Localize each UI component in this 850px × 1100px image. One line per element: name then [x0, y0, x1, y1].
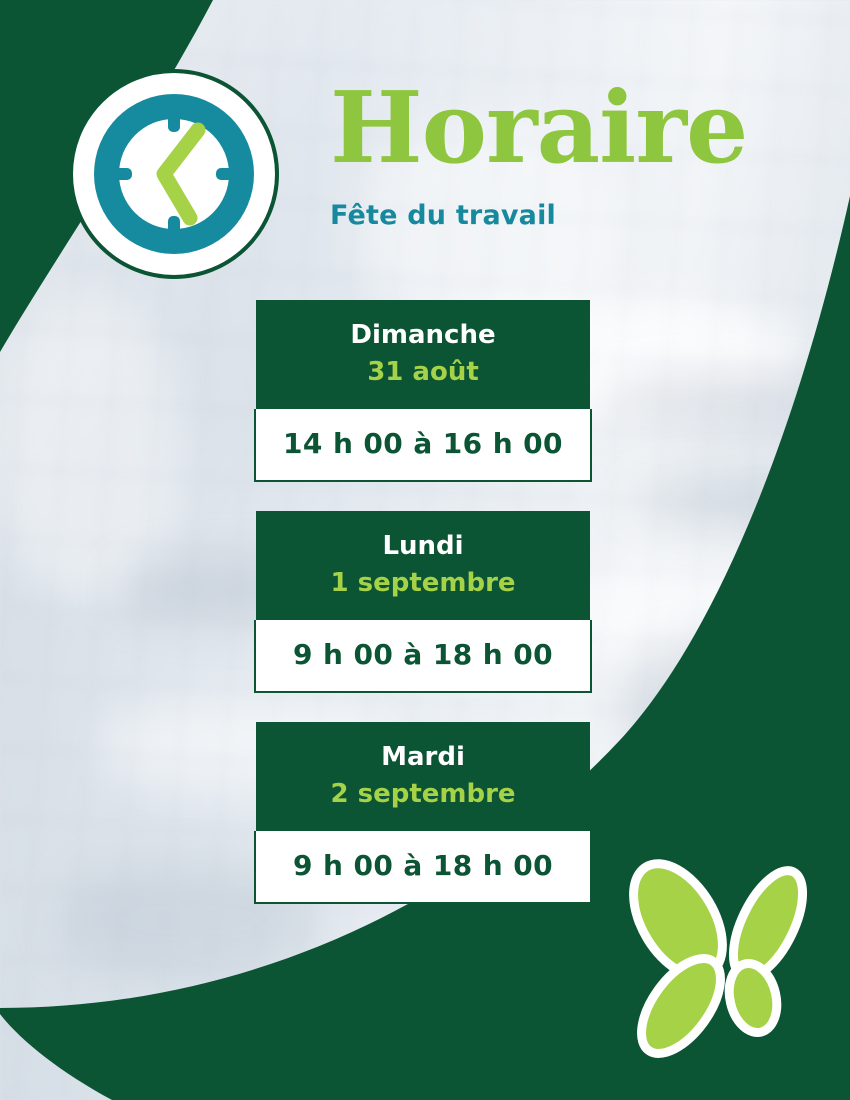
schedule-date: 31 août [266, 356, 580, 390]
schedule-card: Dimanche 31 août 14 h 00 à 16 h 00 [256, 300, 590, 482]
schedule-poster: Horaire Fête du travail Dimanche 31 août… [0, 0, 850, 1100]
schedule-day-name: Mardi [266, 741, 580, 774]
schedule-card: Mardi 2 septembre 9 h 00 à 18 h 00 [256, 722, 590, 904]
schedule-card-body: 9 h 00 à 18 h 00 [254, 620, 592, 693]
butterfly-icon [616, 858, 836, 1058]
schedule-hours: 9 h 00 à 18 h 00 [262, 849, 584, 882]
schedule-card-body: 14 h 00 à 16 h 00 [254, 409, 592, 482]
schedule-day-name: Lundi [266, 530, 580, 563]
schedule-day-name: Dimanche [266, 319, 580, 352]
title-block: Horaire Fête du travail [330, 80, 810, 231]
schedule-date: 2 septembre [266, 778, 580, 812]
page-subtitle: Fête du travail [330, 200, 810, 231]
schedule-card-body: 9 h 00 à 18 h 00 [254, 831, 592, 904]
schedule-card: Lundi 1 septembre 9 h 00 à 18 h 00 [256, 511, 590, 693]
schedule-hours: 14 h 00 à 16 h 00 [262, 427, 584, 460]
clock-icon [68, 68, 280, 280]
schedule-card-header: Dimanche 31 août [256, 300, 590, 409]
schedule-card-header: Mardi 2 septembre [256, 722, 590, 831]
schedule-hours: 9 h 00 à 18 h 00 [262, 638, 584, 671]
page-title: Horaire [330, 80, 810, 178]
schedule-date: 1 septembre [266, 567, 580, 601]
schedule-card-header: Lundi 1 septembre [256, 511, 590, 620]
